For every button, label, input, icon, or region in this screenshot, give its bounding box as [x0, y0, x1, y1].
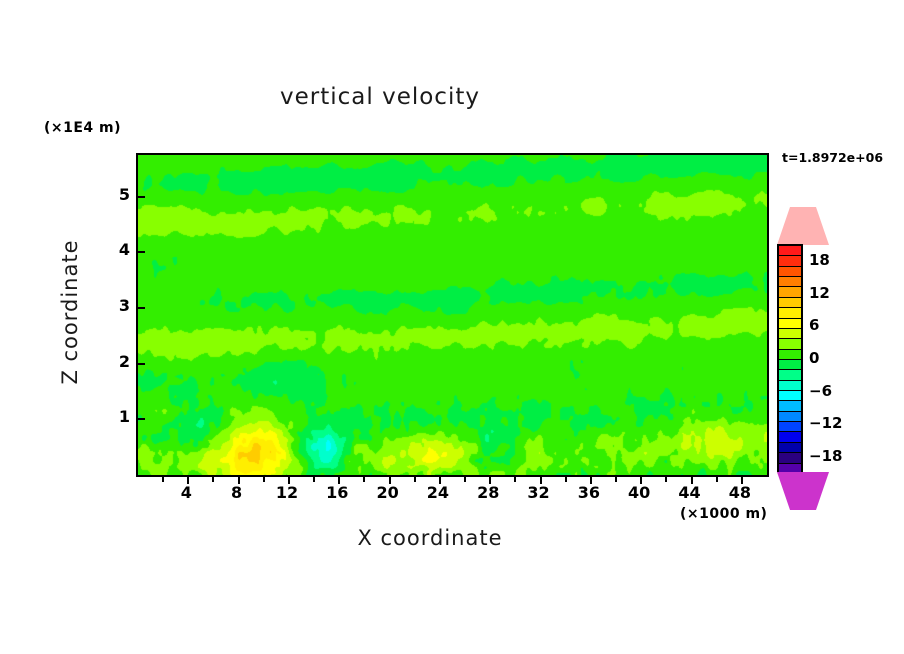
y-tick [138, 307, 145, 309]
x-tick-label: 8 [217, 483, 257, 502]
y-axis-unit-label: (×1E4 m) [44, 120, 121, 136]
x-tick-minor [716, 477, 718, 482]
x-tick-minor [665, 477, 667, 482]
x-tick-label: 40 [619, 483, 659, 502]
colorbar-tick-label: −12 [809, 414, 842, 432]
colorbar-swatch [779, 360, 801, 370]
colorbar-swatch [779, 329, 801, 339]
timestamp-annotation: t=1.8972e+06 [782, 150, 883, 165]
colorbar-swatch [779, 412, 801, 422]
colorbar-swatch [779, 350, 801, 360]
x-tick-label: 16 [317, 483, 357, 502]
y-tick-label: 2 [104, 352, 130, 371]
colorbar-swatch [779, 267, 801, 277]
x-tick-minor [565, 477, 567, 482]
colorbar-swatch [779, 443, 801, 453]
x-tick-label: 36 [569, 483, 609, 502]
colorbar-swatch [779, 308, 801, 318]
x-axis-title: X coordinate [270, 526, 590, 550]
colorbar: 181260−6−12−18 [777, 207, 803, 507]
x-tick-label: 12 [267, 483, 307, 502]
x-tick-minor [162, 477, 164, 482]
x-tick-label: 28 [468, 483, 508, 502]
x-tick-label: 32 [519, 483, 559, 502]
colorbar-swatch [779, 370, 801, 380]
colorbar-tick-label: 6 [809, 316, 819, 334]
x-tick-label: 48 [720, 483, 760, 502]
x-tick-label: 20 [368, 483, 408, 502]
x-tick-minor [615, 477, 617, 482]
colorbar-swatch [779, 298, 801, 308]
colorbar-swatch [779, 246, 801, 256]
x-axis-unit-label: (×1000 m) [680, 506, 767, 522]
colorbar-tick-label: 18 [809, 251, 830, 269]
colorbar-tick-label: −18 [809, 447, 842, 465]
vertical-velocity-field [138, 155, 767, 475]
colorbar-tick-label: 12 [809, 284, 830, 302]
y-tick-label: 4 [104, 240, 130, 259]
colorbar-swatch [779, 422, 801, 432]
colorbar-swatch [779, 432, 801, 442]
contour-plot-area [136, 153, 769, 477]
y-tick [138, 196, 145, 198]
x-tick-minor [263, 477, 265, 482]
y-tick [138, 251, 145, 253]
x-tick-label: 44 [670, 483, 710, 502]
x-tick-minor [212, 477, 214, 482]
x-tick-minor [414, 477, 416, 482]
colorbar-swatch [779, 256, 801, 266]
x-tick-minor [514, 477, 516, 482]
colorbar-tick-label: 0 [809, 349, 819, 367]
colorbar-swatch [779, 339, 801, 349]
y-tick [138, 418, 145, 420]
colorbar-swatch [779, 453, 801, 463]
colorbar-under-arrow [777, 472, 829, 510]
colorbar-over-arrow [777, 207, 829, 245]
colorbar-swatch [779, 381, 801, 391]
page-title: vertical velocity [0, 84, 760, 110]
colorbar-swatches [777, 244, 803, 472]
y-tick-label: 1 [104, 407, 130, 426]
colorbar-swatch [779, 287, 801, 297]
x-tick-minor [464, 477, 466, 482]
colorbar-swatch [779, 277, 801, 287]
y-tick-label: 5 [104, 185, 130, 204]
colorbar-swatch [779, 401, 801, 411]
colorbar-tick-label: −6 [809, 382, 832, 400]
y-axis-title: Z coordinate [58, 202, 82, 422]
y-tick [138, 363, 145, 365]
x-tick-label: 24 [418, 483, 458, 502]
y-tick-label: 3 [104, 296, 130, 315]
colorbar-swatch [779, 319, 801, 329]
x-tick-label: 4 [166, 483, 206, 502]
x-tick-minor [363, 477, 365, 482]
x-tick-minor [313, 477, 315, 482]
colorbar-swatch [779, 391, 801, 401]
